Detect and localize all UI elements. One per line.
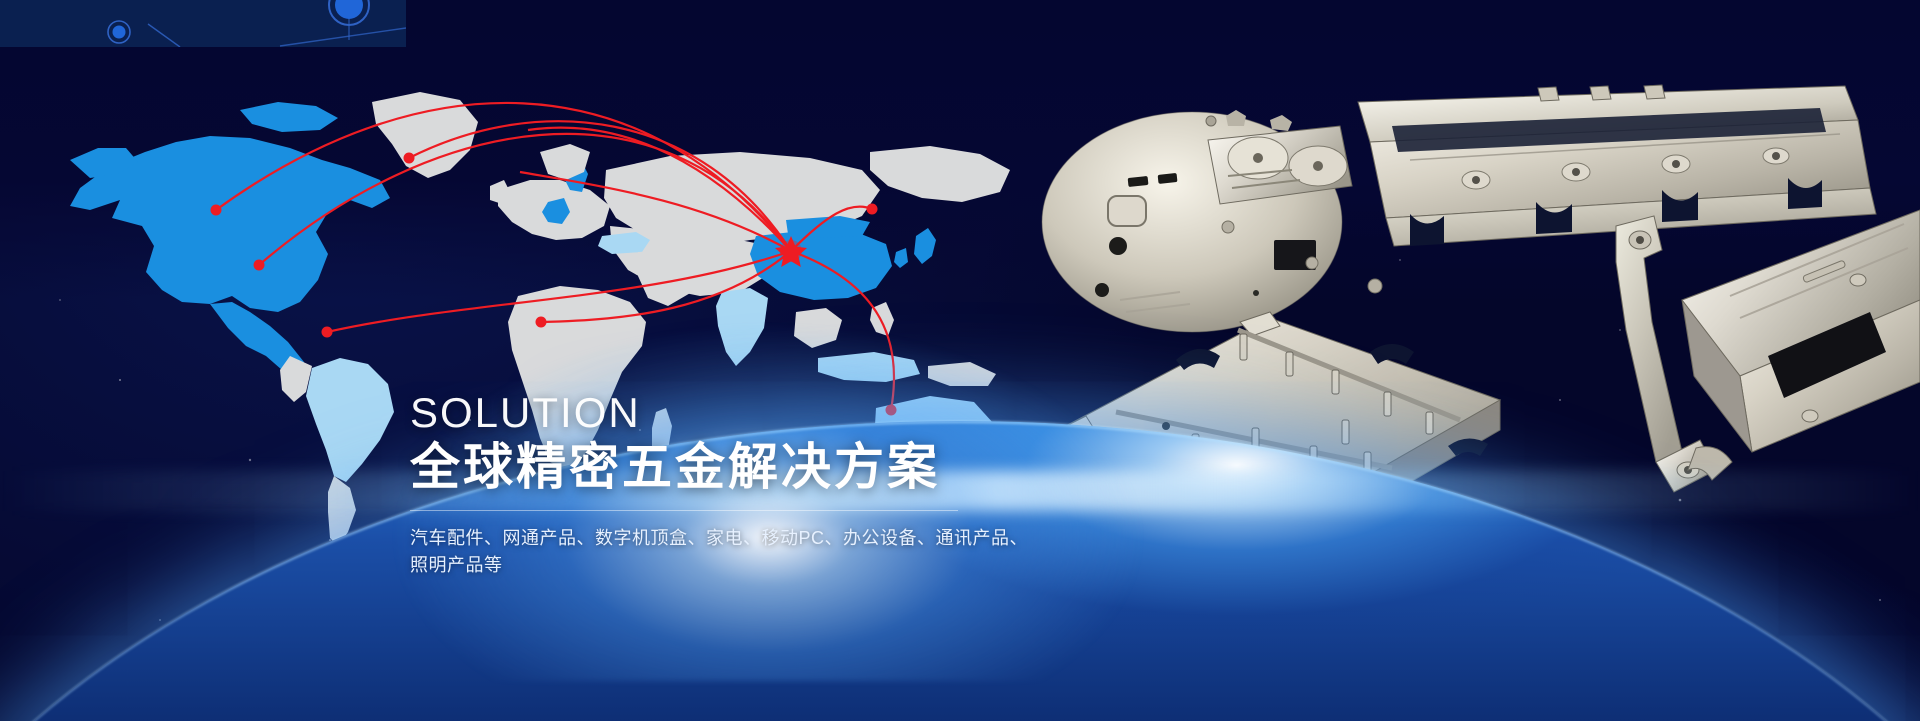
country-brazil	[306, 358, 394, 482]
copy-divider	[410, 510, 958, 511]
banner-eyebrow: SOLUTION	[410, 392, 1030, 434]
sheet-metal-enclosure	[1616, 210, 1920, 492]
country-china	[750, 230, 892, 300]
long-rail-bracket	[1358, 85, 1876, 246]
country-korea	[894, 248, 908, 268]
country-greenland	[372, 92, 478, 178]
region-arctic-islands	[240, 102, 338, 132]
banner-subtitle: 汽车配件、网通产品、数字机顶盒、家电、移动PC、办公设备、通讯产品、照明产品等	[410, 525, 1030, 579]
round-chassis-plate	[1042, 110, 1382, 332]
country-japan	[914, 228, 936, 264]
banner-headline: 全球精密五金解决方案	[410, 440, 1030, 494]
region-middle-east	[638, 250, 698, 306]
banner-copy: SOLUTION 全球精密五金解决方案 汽车配件、网通产品、数字机顶盒、家电、移…	[410, 392, 1030, 579]
tech-node-core-large	[335, 0, 363, 19]
region-mongolia	[786, 216, 870, 238]
tech-node-core-small	[113, 26, 126, 39]
banner-stage: .rt{fill:none;stroke:#ee1c23;stroke-widt…	[0, 0, 1920, 721]
